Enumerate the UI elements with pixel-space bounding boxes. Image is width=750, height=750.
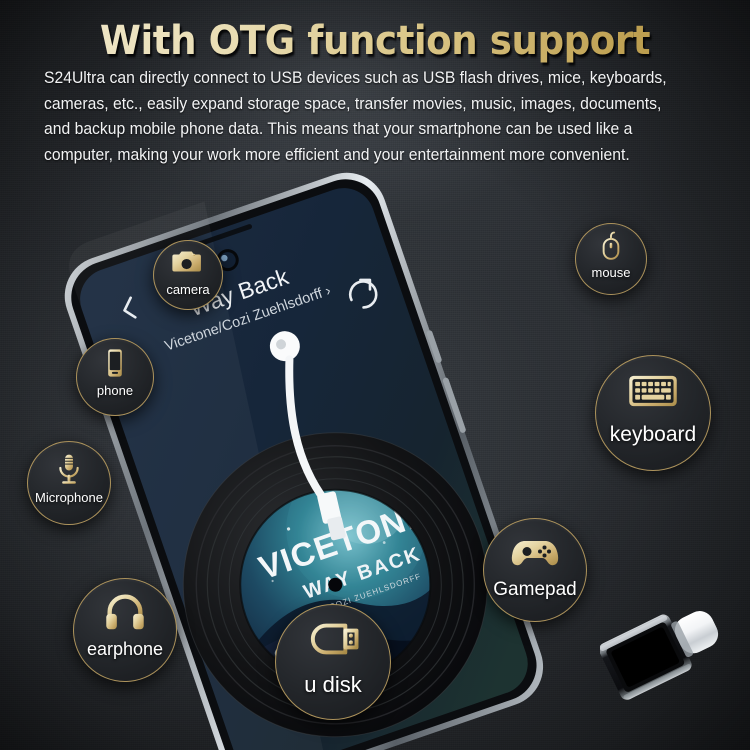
badge-label-mouse: mouse <box>591 265 630 280</box>
badge-phone[interactable]: phone <box>76 338 154 416</box>
phone-icon <box>98 346 132 380</box>
badge-microphone[interactable]: Microphone <box>27 441 111 525</box>
page-title: With OTG function support <box>26 18 724 64</box>
badge-gamepad[interactable]: Gamepad <box>483 518 587 622</box>
description-paragraph: S24Ultra can directly connect to USB dev… <box>44 66 687 168</box>
badge-label-phone: phone <box>97 383 133 398</box>
usb-c-adapter-svg <box>600 595 730 710</box>
badge-label-gamepad: Gamepad <box>493 579 576 601</box>
badge-label-keyboard: keyboard <box>610 423 696 447</box>
badge-label-microphone: Microphone <box>35 490 103 505</box>
mouse-icon <box>595 230 627 262</box>
keyboard-icon <box>626 364 680 418</box>
badge-camera[interactable]: camera <box>153 240 223 310</box>
badge-keyboard[interactable]: keyboard <box>595 355 711 471</box>
headphones-icon <box>101 587 149 635</box>
badge-label-udisk: u disk <box>304 672 361 698</box>
gamepad-icon <box>510 525 560 575</box>
microphone-icon <box>51 451 87 487</box>
usb-drive-icon <box>305 611 361 667</box>
camera-icon <box>171 245 205 279</box>
badge-mouse[interactable]: mouse <box>575 223 647 295</box>
badge-label-camera: camera <box>166 282 209 297</box>
product-banner: With OTG function support S24Ultra can d… <box>0 0 750 750</box>
usb-c-otg-adapter <box>600 595 730 715</box>
badge-earphone[interactable]: earphone <box>73 578 177 682</box>
badge-label-earphone: earphone <box>87 639 163 660</box>
badge-udisk[interactable]: u disk <box>275 604 391 720</box>
